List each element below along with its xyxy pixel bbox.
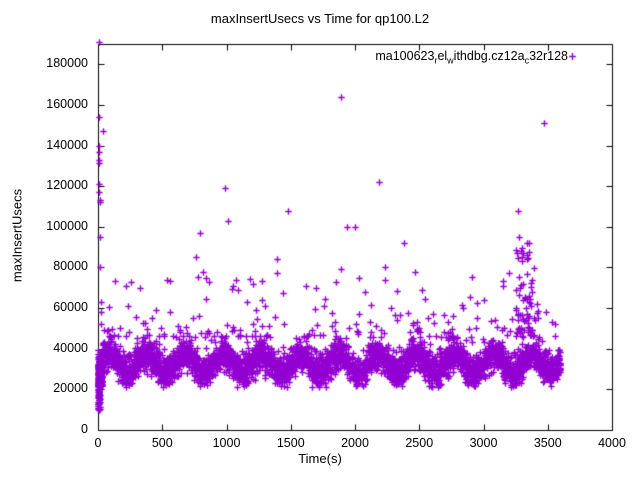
x-tick-label: 3000 (454, 436, 514, 450)
x-tick-label: 2500 (389, 436, 449, 450)
legend-text: el (437, 49, 447, 63)
x-tick-label: 4000 (582, 436, 640, 450)
x-tick-label: 1500 (261, 436, 321, 450)
x-tick-label: 0 (68, 436, 128, 450)
chart-container: maxInsertUsecs vs Time for qp100.L2 Time… (0, 0, 640, 480)
x-tick-label: 500 (132, 436, 192, 450)
legend-series-label: ma100623relwithdbg.cz12ac32r128 (375, 49, 568, 66)
y-tick-label: 60000 (4, 300, 88, 314)
legend-text: ma100623 (375, 49, 434, 63)
y-tick-label: 160000 (4, 97, 88, 111)
scatter-plot-canvas (0, 0, 640, 480)
y-tick-label: 140000 (4, 138, 88, 152)
y-tick-label: 100000 (4, 219, 88, 233)
y-tick-label: 120000 (4, 178, 88, 192)
y-tick-label: 40000 (4, 341, 88, 355)
x-tick-label: 2000 (325, 436, 385, 450)
chart-title: maxInsertUsecs vs Time for qp100.L2 (0, 11, 640, 26)
y-tick-label: 180000 (4, 56, 88, 70)
y-tick-label: 80000 (4, 259, 88, 273)
legend-text: ithdbg.cz12a (454, 49, 525, 63)
x-tick-label: 3500 (518, 436, 578, 450)
legend-text: 32r128 (529, 49, 568, 63)
x-axis-label: Time(s) (0, 451, 640, 466)
y-tick-label: 20000 (4, 381, 88, 395)
x-tick-label: 1000 (197, 436, 257, 450)
y-tick-label: 0 (4, 422, 88, 436)
